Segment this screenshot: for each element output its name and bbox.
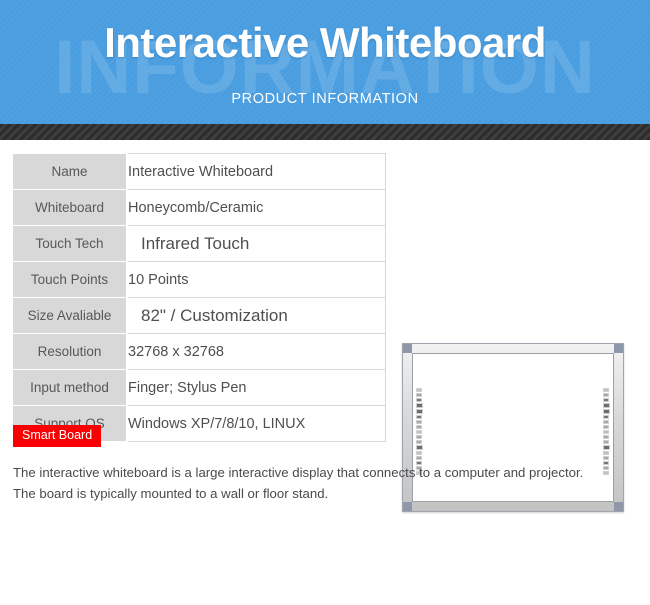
page-title: Interactive Whiteboard — [0, 20, 650, 66]
toolbar-icon — [603, 409, 610, 414]
spec-label-touch-points: Touch Points — [13, 262, 128, 298]
toolbar-icon — [603, 451, 609, 455]
toolbar-icon — [416, 425, 422, 429]
table-row: Touch Tech Infrared Touch — [13, 226, 386, 262]
frame-corner-bottom-right — [614, 502, 623, 511]
spec-value-whiteboard: Honeycomb/Ceramic — [127, 190, 386, 226]
spec-value-touch-tech: Infrared Touch — [127, 226, 386, 262]
toolbar-icon — [416, 403, 423, 408]
toolbar-icon — [603, 435, 609, 439]
frame-corner-top-left — [403, 344, 412, 353]
table-row: Whiteboard Honeycomb/Ceramic — [13, 190, 386, 226]
toolbar-icon — [603, 415, 609, 419]
toolbar-icon — [416, 420, 422, 424]
spec-value-input-method: Finger; Stylus Pen — [127, 370, 386, 406]
toolbar-icon — [416, 398, 422, 402]
frame-corner-top-right — [614, 344, 623, 353]
spec-label-name: Name — [13, 154, 128, 190]
spec-label-input-method: Input method — [13, 370, 128, 406]
table-row: Input method Finger; Stylus Pen — [13, 370, 386, 406]
spec-value-touch-points: 10 Points — [127, 262, 386, 298]
toolbar-icon — [603, 430, 609, 434]
spec-value-resolution: 32768 x 32768 — [127, 334, 386, 370]
toolbar-icon — [603, 425, 609, 429]
page-header-banner: INFORMATION Interactive Whiteboard PRODU… — [0, 0, 650, 124]
table-row: Resolution 32768 x 32768 — [13, 334, 386, 370]
table-row: Touch Points 10 Points — [13, 262, 386, 298]
table-row: Name Interactive Whiteboard — [13, 154, 386, 190]
toolbar-icon — [416, 456, 422, 460]
toolbar-icon — [416, 440, 422, 444]
spec-label-touch-tech: Touch Tech — [13, 226, 128, 262]
spec-label-whiteboard: Whiteboard — [13, 190, 128, 226]
spec-label-size-avaliable: Size Avaliable — [13, 298, 128, 334]
main-content: Name Interactive Whiteboard Whiteboard H… — [0, 140, 650, 605]
description-line-2: The board is typically mounted to a wall… — [13, 483, 613, 504]
toolbar-icon — [603, 456, 609, 460]
toolbar-icon — [416, 415, 422, 419]
spec-value-name: Interactive Whiteboard — [127, 154, 386, 190]
toolbar-icon — [416, 388, 422, 392]
toolbar-icon — [603, 398, 609, 402]
product-description: The interactive whiteboard is a large in… — [13, 462, 613, 505]
status-badge: Smart Board — [13, 425, 101, 447]
toolbar-icon — [416, 393, 422, 397]
toolbar-icon — [416, 409, 423, 414]
toolbar-icon — [416, 445, 423, 450]
page-subtitle: PRODUCT INFORMATION — [0, 91, 650, 107]
description-line-1: The interactive whiteboard is a large in… — [13, 462, 613, 483]
toolbar-icon — [416, 430, 422, 434]
table-row: Size Avaliable 82" / Customization — [13, 298, 386, 334]
toolbar-icon — [603, 403, 610, 408]
toolbar-icon — [416, 435, 422, 439]
spec-value-size-avaliable: 82" / Customization — [127, 298, 386, 334]
striped-divider — [0, 124, 650, 140]
spec-value-support-os: Windows XP/7/8/10, LINUX — [127, 406, 386, 442]
toolbar-icon — [603, 440, 609, 444]
toolbar-icon — [603, 393, 609, 397]
toolbar-icon — [416, 451, 422, 455]
toolbar-icon — [603, 420, 609, 424]
specification-table: Name Interactive Whiteboard Whiteboard H… — [12, 153, 386, 442]
toolbar-icon — [603, 388, 609, 392]
toolbar-icon — [603, 445, 610, 450]
spec-label-resolution: Resolution — [13, 334, 128, 370]
